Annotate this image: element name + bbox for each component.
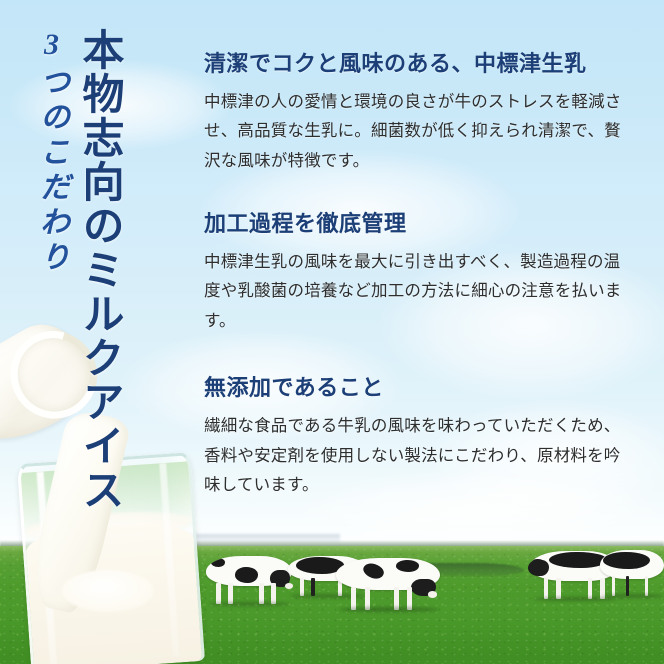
cow-patch xyxy=(361,561,385,581)
cow-leg xyxy=(544,578,548,599)
cow-body xyxy=(600,550,664,579)
cow-leg xyxy=(626,576,629,596)
cow-leg xyxy=(259,583,263,604)
section-3-body: 繊細な食品である牛乳の風味を味わっていただくため、香料や安定剤を使用しない製法に… xyxy=(204,412,624,500)
cow-muzzle xyxy=(428,591,437,597)
cow xyxy=(600,550,664,596)
title-block: 3つのこだわり 本物志向のミルクアイス xyxy=(36,28,120,528)
cow-leg xyxy=(645,576,648,596)
cow-patch xyxy=(396,560,419,572)
cow-leg xyxy=(228,583,232,604)
cow xyxy=(206,556,292,604)
copy-column: 清潔でコクと風味のある、中標津生乳 中標津の人の愛情と環境の良さが牛のストレスを… xyxy=(204,46,624,500)
cow-shadow xyxy=(209,602,290,606)
cow-patch xyxy=(211,558,225,567)
poster-canvas: 3つのこだわり 本物志向のミルクアイス 清潔でコクと風味のある、中標津生乳 中標… xyxy=(0,0,664,664)
cow-leg xyxy=(271,583,275,604)
section-2: 加工過程を徹底管理 中標津生乳の風味を最大に引き出すべく、製造過程の温度や乳酸菌… xyxy=(204,206,624,336)
cow-shadow xyxy=(534,597,617,601)
cow-leg xyxy=(612,576,615,596)
section-3: 無添加であること 繊細な食品である牛乳の風味を味わっていただくため、香料や安定剤… xyxy=(204,370,624,500)
cow-shadow xyxy=(603,594,663,598)
milk-splash xyxy=(62,570,154,612)
section-1-body: 中標津の人の愛情と環境の良さが牛のストレスを軽減させ、高品質な生乳に。細菌数が低… xyxy=(204,88,624,176)
poster-title: 本物志向のミルクアイス xyxy=(78,28,120,528)
section-1: 清潔でコクと風味のある、中標津生乳 中標津の人の愛情と環境の良さが牛のストレスを… xyxy=(204,46,624,176)
section-3-heading: 無添加であること xyxy=(204,370,624,402)
cow-leg xyxy=(351,587,356,610)
cow-leg xyxy=(216,583,220,604)
cow-patch xyxy=(549,552,607,569)
cow-patch xyxy=(603,552,650,570)
section-2-body: 中標津生乳の風味を最大に引き出すべく、製造過程の温度や乳酸菌の培養など加工の方法… xyxy=(204,248,624,336)
section-1-heading: 清潔でコクと風味のある、中標津生乳 xyxy=(204,46,624,78)
cow-patch xyxy=(235,567,257,582)
cow-leg xyxy=(300,578,304,596)
poster-subtitle: 3つのこだわり xyxy=(36,28,66,358)
section-2-heading: 加工過程を徹底管理 xyxy=(204,206,624,238)
cow xyxy=(336,558,440,610)
cow-leg xyxy=(588,578,592,599)
cow-head xyxy=(528,560,549,576)
cow-leg xyxy=(556,578,560,599)
